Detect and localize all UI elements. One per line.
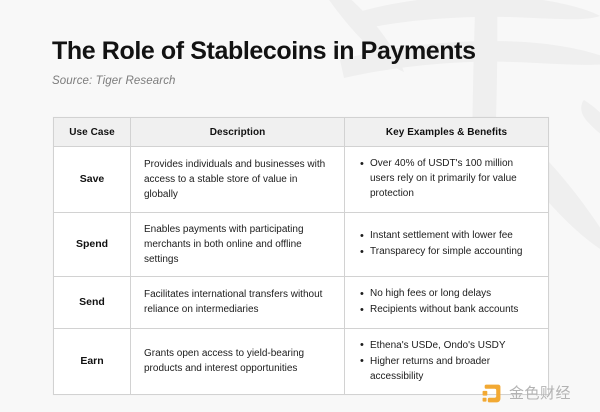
- table-row: SaveProvides individuals and businesses …: [54, 147, 549, 213]
- column-header-description: Description: [131, 118, 345, 147]
- cell-key-examples: Over 40% of USDT's 100 million users rel…: [345, 147, 549, 213]
- cell-key-examples: No high fees or long delaysRecipients wi…: [345, 277, 549, 328]
- header-block: The Role of Stablecoins in Payments Sour…: [52, 38, 552, 87]
- key-example-item: Over 40% of USDT's 100 million users rel…: [370, 156, 538, 202]
- cell-use-case: Send: [54, 277, 131, 328]
- cell-use-case: Earn: [54, 328, 131, 395]
- source-attribution: Source: Tiger Research: [52, 75, 552, 87]
- column-header-use-case: Use Case: [54, 118, 131, 147]
- key-example-item: Instant settlement with lower fee: [370, 228, 538, 243]
- cell-key-examples: Instant settlement with lower feeTranspa…: [345, 212, 549, 277]
- key-example-item: Recipients without bank accounts: [370, 302, 538, 317]
- page-title: The Role of Stablecoins in Payments: [52, 38, 552, 66]
- key-examples-list: Ethena's USDe, Ondo's USDYHigher returns…: [359, 338, 538, 385]
- cell-use-case: Save: [54, 147, 131, 213]
- key-example-item: No high fees or long delays: [370, 286, 538, 301]
- brand-name-text: 金色财经: [509, 386, 571, 401]
- use-case-table: Use Case Description Key Examples & Bene…: [53, 117, 549, 395]
- key-examples-list: No high fees or long delaysRecipients wi…: [359, 286, 538, 317]
- jinse-finance-mark-icon: [481, 383, 502, 404]
- cell-description: Enables payments with participating merc…: [131, 212, 345, 277]
- key-examples-list: Over 40% of USDT's 100 million users rel…: [359, 156, 538, 202]
- table-row: SpendEnables payments with participating…: [54, 212, 549, 277]
- cell-description: Grants open access to yield-bearing prod…: [131, 328, 345, 395]
- table-body: SaveProvides individuals and businesses …: [54, 147, 549, 395]
- key-examples-list: Instant settlement with lower feeTranspa…: [359, 228, 538, 259]
- cell-use-case: Spend: [54, 212, 131, 277]
- key-example-item: Ethena's USDe, Ondo's USDY: [370, 338, 538, 353]
- key-example-item: Higher returns and broader accessibility: [370, 354, 538, 384]
- cell-description: Provides individuals and businesses with…: [131, 147, 345, 213]
- column-header-key-examples: Key Examples & Benefits: [345, 118, 549, 147]
- key-example-item: Transparecy for simple accounting: [370, 244, 538, 259]
- table-header: Use Case Description Key Examples & Bene…: [54, 118, 549, 147]
- slide-canvas: The Role of Stablecoins in Payments Sour…: [0, 0, 600, 412]
- table-header-row: Use Case Description Key Examples & Bene…: [54, 118, 549, 147]
- table-row: EarnGrants open access to yield-bearing …: [54, 328, 549, 395]
- cell-description: Facilitates international transfers with…: [131, 277, 345, 328]
- table-row: SendFacilitates international transfers …: [54, 277, 549, 328]
- brand-logo: 金色财经: [481, 383, 571, 404]
